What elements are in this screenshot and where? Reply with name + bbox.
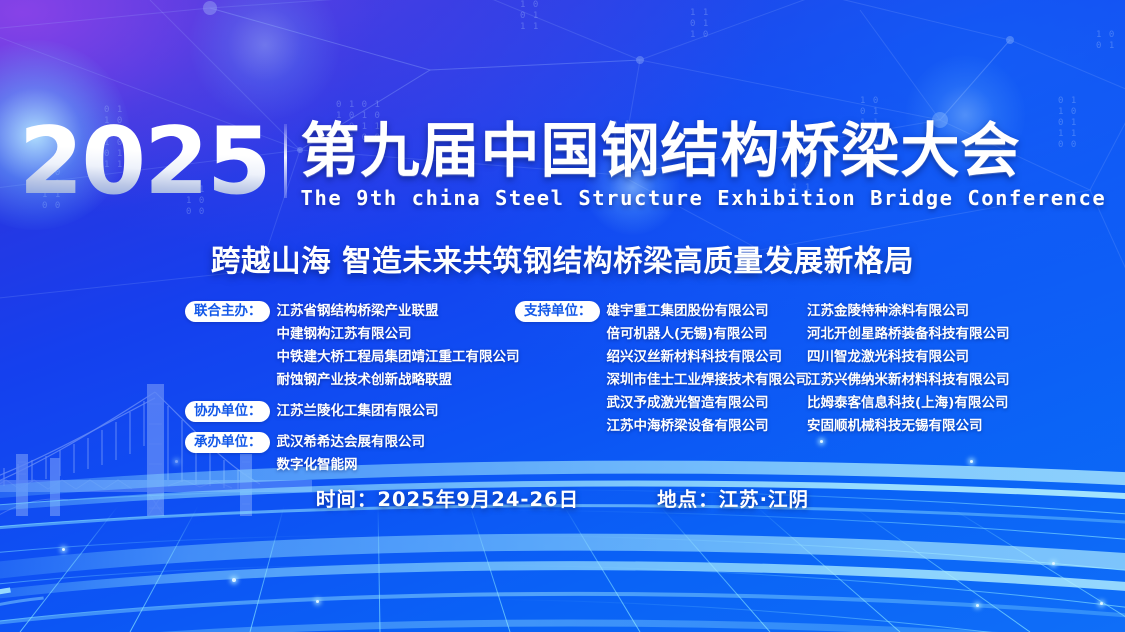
list-item: 江苏金陵特种涂料有限公司 xyxy=(807,300,1010,323)
event-location: 地点：江苏·江阴 xyxy=(657,483,809,512)
list-item: 中铁建大桥工程局集团靖江重工有限公司 xyxy=(277,346,520,369)
sponsor-column-right: 江苏金陵特种涂料有限公司 河北开创星路桥装备科技有限公司 四川智龙激光科技有限公… xyxy=(807,300,1010,477)
list-item: 数字化智能网 xyxy=(277,454,426,477)
list-item: 雄宇重工集团股份有限公司 xyxy=(607,300,810,323)
org-list-joint-host: 江苏省钢结构桥梁产业联盟 中建钢构江苏有限公司 中铁建大桥工程局集团靖江重工有限… xyxy=(277,300,520,392)
org-list-supporting: 雄宇重工集团股份有限公司 倍可机器人(无锡)有限公司 绍兴汉丝新材料科技有限公司… xyxy=(607,300,810,438)
title-block: 第九届中国钢结构桥梁大会 The 9th china Steel Structu… xyxy=(301,118,1107,210)
org-list-organizer: 武汉希希达会展有限公司 数字化智能网 xyxy=(277,431,426,477)
sponsor-group-coorganizers: 联合主办： 江苏省钢结构桥梁产业联盟 中建钢构江苏有限公司 中铁建大桥工程局集团… xyxy=(185,300,515,392)
banner-footer: 时间：2025年9月24-26日 地点：江苏·江阴 xyxy=(0,483,1125,512)
sparkle-decoration xyxy=(1052,562,1055,565)
event-date: 时间：2025年9月24-26日 xyxy=(316,483,579,512)
list-item: 比姆泰客信息科技(上海)有限公司 xyxy=(807,392,1010,415)
conference-title-cn: 第九届中国钢结构桥梁大会 xyxy=(301,120,1107,181)
list-item: 江苏兰陵化工集团有限公司 xyxy=(277,400,439,423)
list-item: 倍可机器人(无锡)有限公司 xyxy=(607,323,810,346)
sponsor-group-supporting: 支持单位： 雄宇重工集团股份有限公司 倍可机器人(无锡)有限公司 绍兴汉丝新材料… xyxy=(515,300,807,438)
list-item: 江苏中海桥梁设备有限公司 xyxy=(607,415,810,438)
list-item: 绍兴汉丝新材料科技有限公司 xyxy=(607,346,810,369)
title-divider xyxy=(284,124,287,198)
list-item: 江苏兴佛纳米新材料科技有限公司 xyxy=(807,369,1010,392)
label-organizing-unit: 承办单位： xyxy=(185,432,270,453)
banner-header: 2025 第九届中国钢结构桥梁大会 The 9th china Steel St… xyxy=(0,118,1125,210)
list-item: 安固顺机械科技无锡有限公司 xyxy=(807,415,1010,438)
list-item: 耐蚀钢产业技术创新战略联盟 xyxy=(277,369,520,392)
sparkle-decoration xyxy=(316,600,319,603)
org-list-supporting-continued: 江苏金陵特种涂料有限公司 河北开创星路桥装备科技有限公司 四川智龙激光科技有限公… xyxy=(807,300,1010,438)
conference-slogan: 跨越山海 智造未来共筑钢结构桥梁高质量发展新格局 xyxy=(0,238,1125,280)
org-list-assisting: 江苏兰陵化工集团有限公司 xyxy=(277,400,439,423)
list-item: 深圳市佳士工业焊接技术有限公司 xyxy=(607,369,810,392)
sparkle-decoration xyxy=(175,460,178,463)
list-item: 河北开创星路桥装备科技有限公司 xyxy=(807,323,1010,346)
conference-banner: 1 0 0 1 1 1 0 0 0 1 1 0 0 1 1 0 0 1 1 1 … xyxy=(0,0,1125,632)
sparkle-decoration xyxy=(62,548,65,551)
sparkle-decoration xyxy=(1100,602,1103,605)
label-joint-host: 联合主办： xyxy=(185,301,270,322)
sponsor-group-assisting: 协办单位： 江苏兰陵化工集团有限公司 xyxy=(185,400,515,423)
year-2025: 2025 xyxy=(19,118,284,204)
sponsor-column-middle: 支持单位： 雄宇重工集团股份有限公司 倍可机器人(无锡)有限公司 绍兴汉丝新材料… xyxy=(515,300,807,477)
label-supporting-unit: 支持单位： xyxy=(515,301,600,322)
conference-title-en: The 9th china Steel Structure Exhibition… xyxy=(301,186,1107,210)
sponsor-group-organizer: 承办单位： 武汉希希达会展有限公司 数字化智能网 xyxy=(185,431,515,477)
list-item: 中建钢构江苏有限公司 xyxy=(277,323,520,346)
list-item: 武汉予成激光智造有限公司 xyxy=(607,392,810,415)
sparkle-decoration xyxy=(232,578,236,582)
list-item: 江苏省钢结构桥梁产业联盟 xyxy=(277,300,520,323)
list-item: 武汉希希达会展有限公司 xyxy=(277,431,426,454)
sponsor-section: 联合主办： 江苏省钢结构桥梁产业联盟 中建钢构江苏有限公司 中铁建大桥工程局集团… xyxy=(185,300,1030,477)
label-assisting-unit: 协办单位： xyxy=(185,401,270,422)
sponsor-column-left: 联合主办： 江苏省钢结构桥梁产业联盟 中建钢构江苏有限公司 中铁建大桥工程局集团… xyxy=(185,300,515,477)
sparkle-decoration xyxy=(976,604,979,607)
list-item: 四川智龙激光科技有限公司 xyxy=(807,346,1010,369)
